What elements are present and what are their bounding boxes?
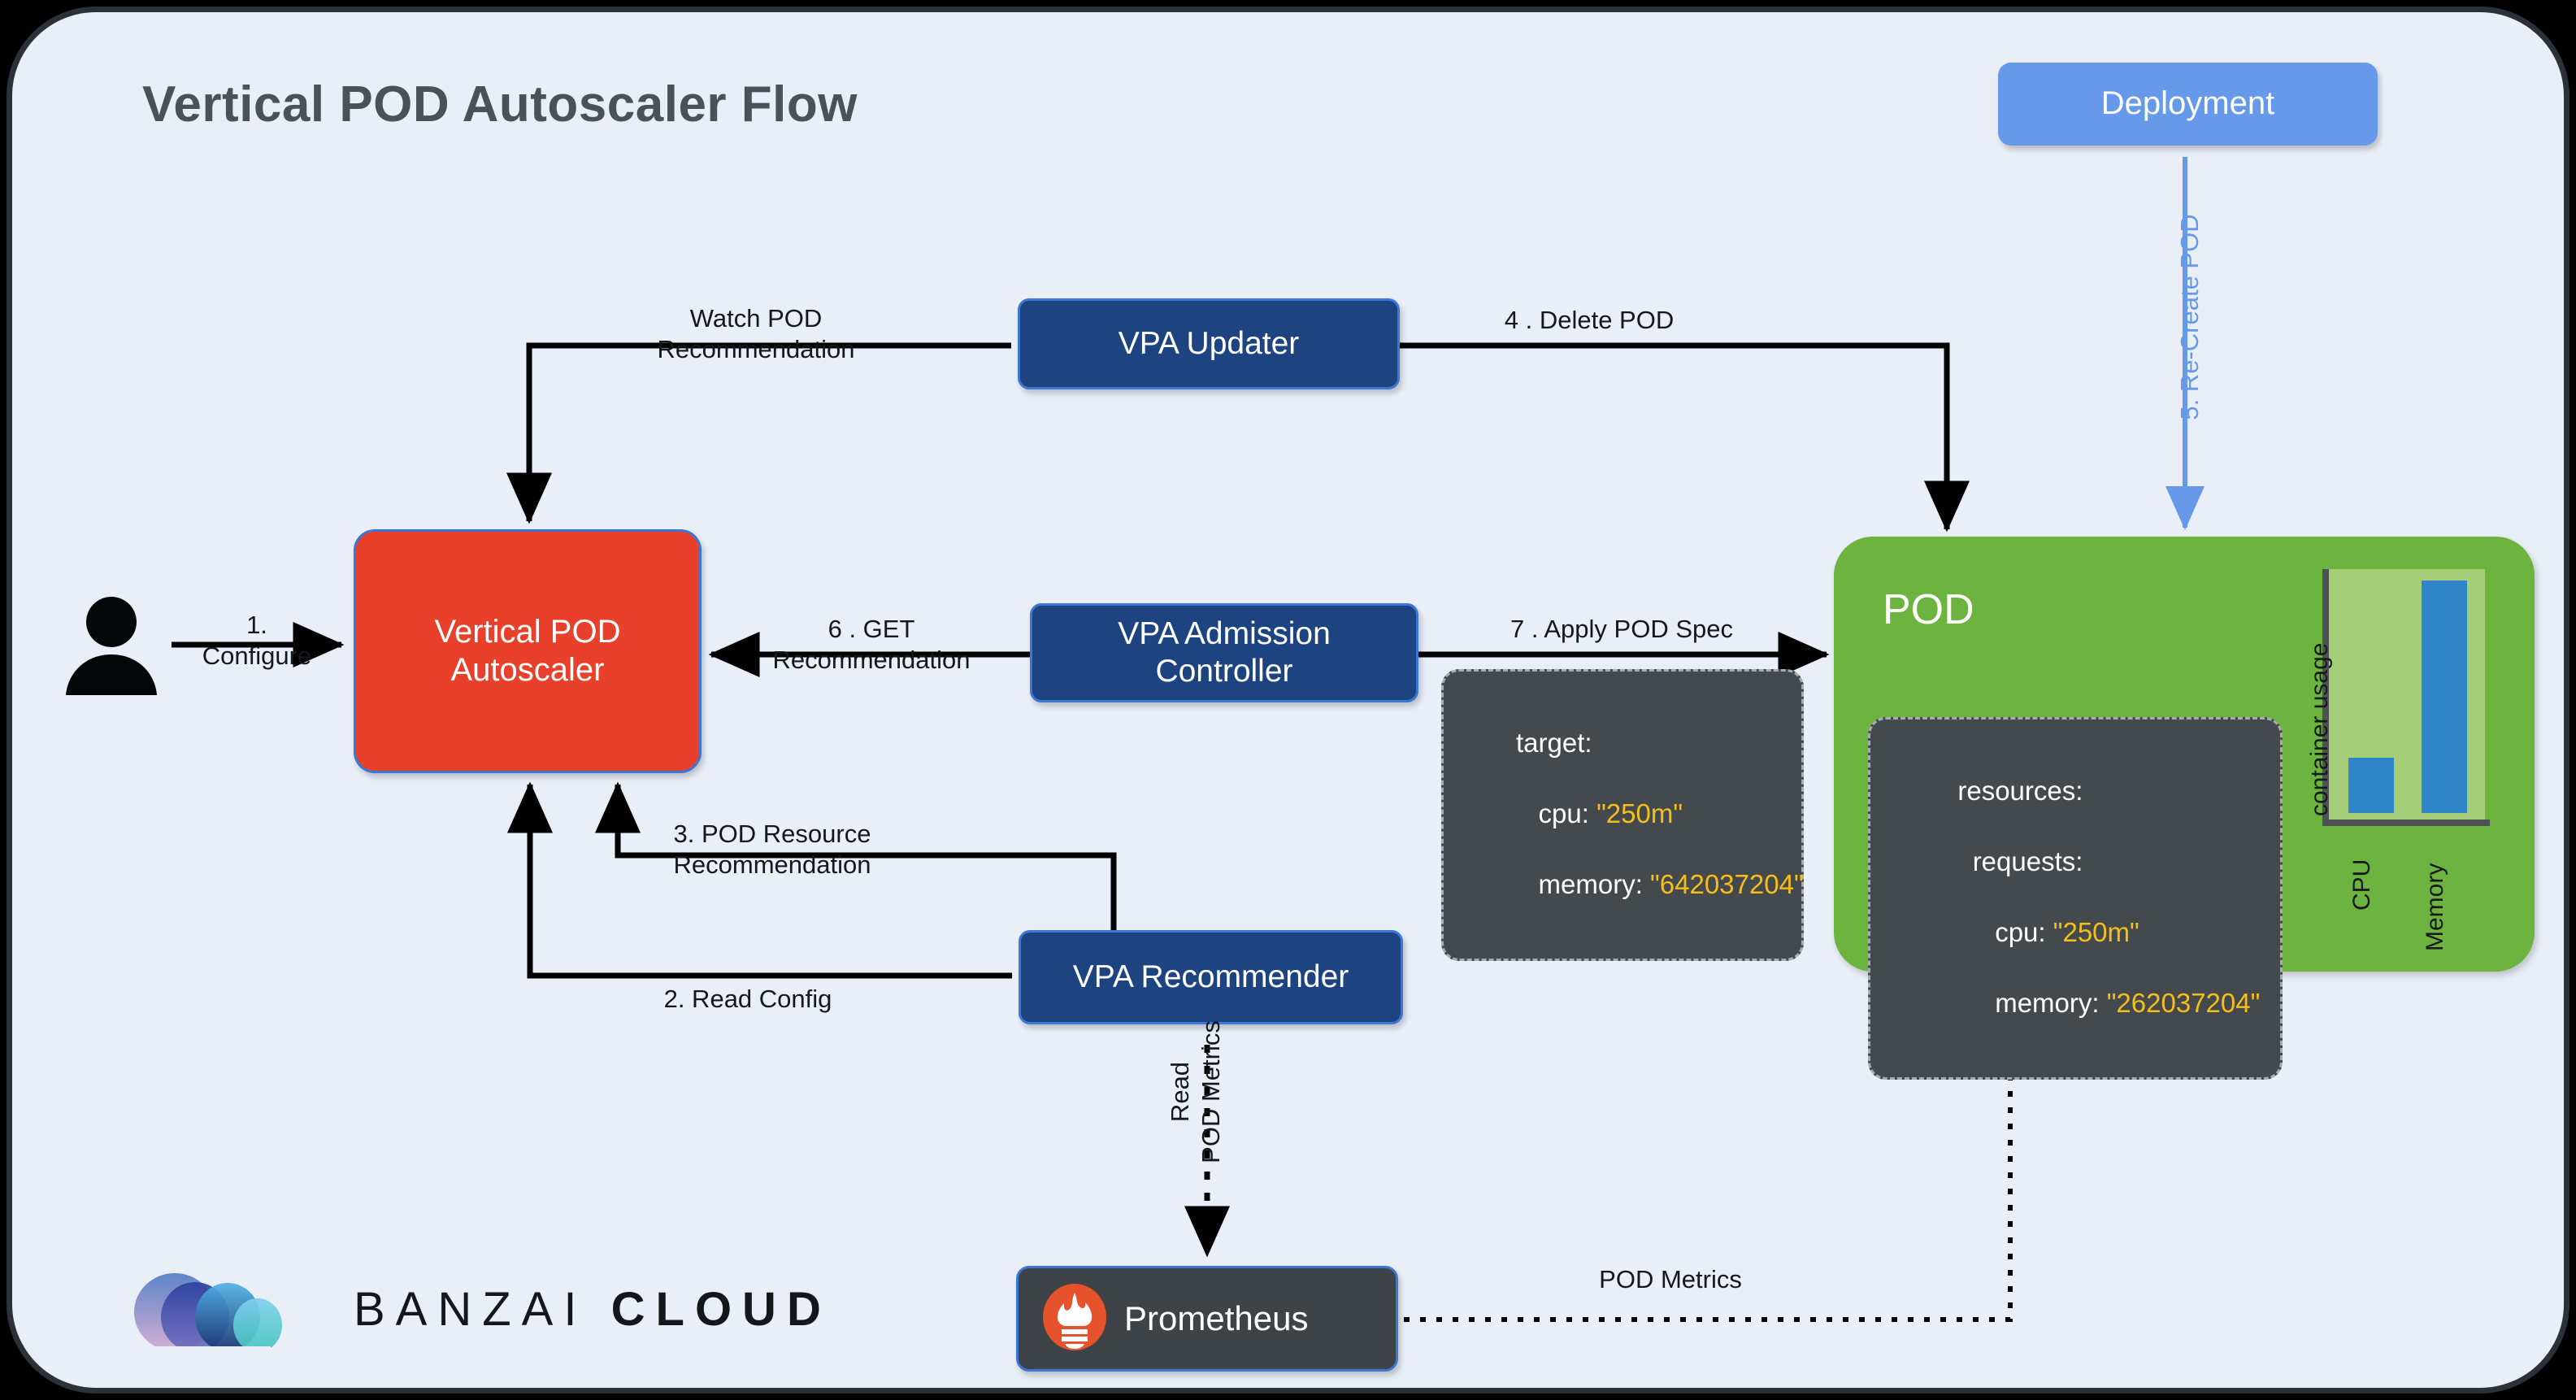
node-vpa-updater[interactable]: VPA Updater [1018,298,1400,389]
node-vpa-admission-controller-label: VPA Admission Controller [1118,615,1331,690]
diagram-card: Vertical POD Autoscaler Flow Deployment … [7,7,2569,1393]
person-icon [54,589,168,703]
code-target-line1: target: [1516,728,1592,758]
edge-label-get-recommendation: 6 . GET Recommendation [713,614,1030,676]
edge-label-apply-pod-spec: 7 . Apply POD Spec [1443,614,1801,645]
container-usage-chart: container usage CPU Memory [2316,569,2485,831]
node-vpa-admission-controller[interactable]: VPA Admission Controller [1030,603,1418,702]
edge-label-recreate-pod: 5. Re-Create POD [2174,183,2205,451]
logo-text-light: BANZAI [354,1283,588,1336]
logo-text: BANZAI CLOUD [354,1282,832,1337]
edge-label-read-config: 2. Read Config [553,984,943,1015]
banzai-cloud-logo: BANZAI CLOUD [118,1256,931,1362]
chart-ylabel: container usage [2306,643,2334,817]
chart-bar-memory [2422,580,2467,813]
edge-label-delete-pod: 4 . Delete POD [1427,305,1752,336]
edge-label-configure: 1. Configure [172,610,342,672]
node-vertical-pod-autoscaler-label: Vertical POD Autoscaler [435,613,621,689]
code-resources-line3-value: "250m" [2053,917,2139,947]
edge-label-watch-pod-recommendation: Watch POD Recommendation [581,303,931,365]
chart-plot-area [2326,569,2485,820]
node-deployment-label: Deployment [2101,85,2274,123]
code-resources-line4-key: memory: [1957,988,2106,1018]
node-vpa-recommender-label: VPA Recommender [1073,959,1349,996]
edge-delete-pod [1349,346,1947,529]
edge-label-pod-metrics: POD Metrics [1532,1264,1809,1295]
chart-xtick-memory: Memory [2422,863,2449,951]
logo-text-bold: CLOUD [611,1283,832,1336]
code-resources-line3-key: cpu: [1957,917,2053,947]
code-target-line2-value: "250m" [1596,798,1683,828]
edge-watch-pod-recommendation [529,346,1011,521]
node-vpa-updater-label: VPA Updater [1119,325,1300,363]
node-deployment[interactable]: Deployment [1998,63,2378,146]
chart-bar-cpu [2348,758,2394,813]
node-prometheus[interactable]: Prometheus [1016,1266,1398,1372]
code-block-target: target: cpu: "250m" memory: "642037204" [1441,669,1804,961]
code-block-resources: resources: requests: cpu: "250m" memory:… [1868,717,2283,1080]
diagram-canvas: Vertical POD Autoscaler Flow Deployment … [0,0,2576,1400]
code-target-line3-key: memory: [1516,869,1650,899]
edge-label-pod-resource-recommendation: 3. POD Resource Recommendation [557,819,988,880]
code-resources-line4-value: "262037204" [2107,988,2261,1018]
code-resources-line1: resources: [1957,776,2083,806]
chart-x-axis [2322,820,2490,826]
node-prometheus-label: Prometheus [1124,1299,1308,1338]
edge-label-read-pod-metrics: Read POD Metrics [1165,994,1227,1189]
prometheus-icon [1040,1282,1110,1356]
node-pod-label: POD [1883,585,1974,634]
page-title: Vertical POD Autoscaler Flow [142,76,858,133]
code-resources-line2: requests: [1957,846,2083,876]
code-target-line3-value: "642037204" [1650,869,1804,899]
node-vertical-pod-autoscaler[interactable]: Vertical POD Autoscaler [354,529,702,773]
code-target-line2-key: cpu: [1516,798,1596,828]
chart-xtick-cpu: CPU [2348,859,2376,911]
